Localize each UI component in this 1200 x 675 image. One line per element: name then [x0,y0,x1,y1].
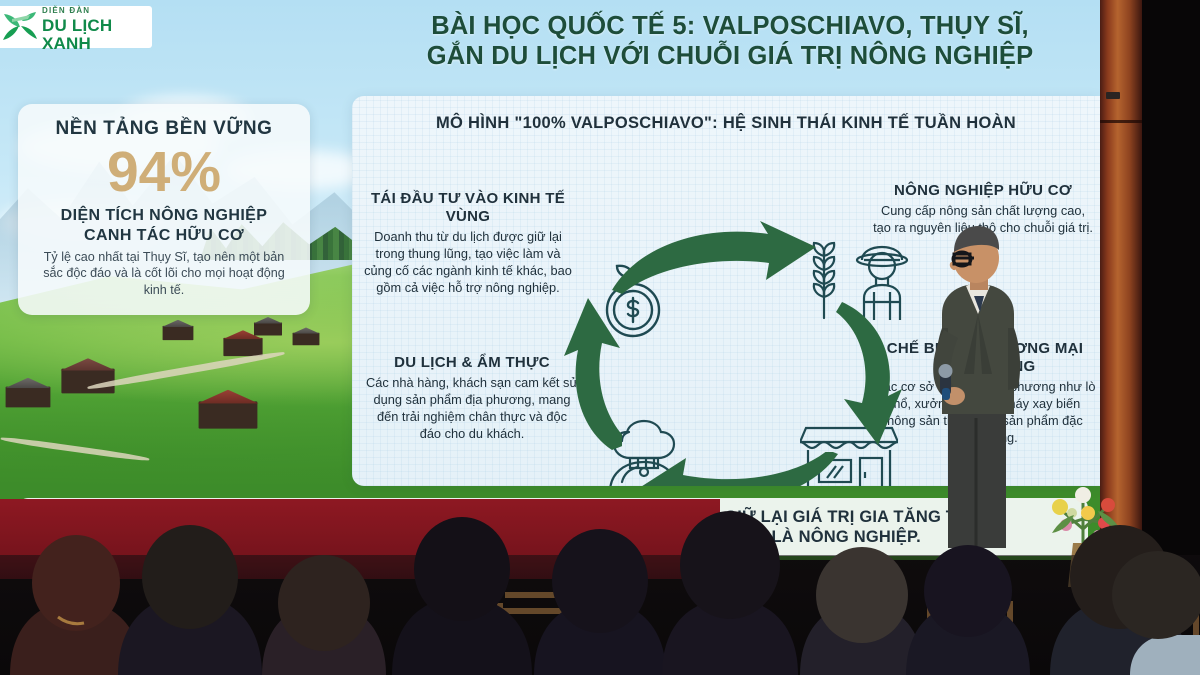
arrow-left-icon [560,292,622,457]
presentation-photo: BÀI HỌC QUỐC TẾ 5: VALPOSCHIAVO, THỤY SĨ… [0,0,1200,675]
panel-title: MÔ HÌNH "100% VALPOSCHIAVO": HỆ SINH THÁ… [352,114,1100,133]
logo-top-line: DIỄN ĐÀN [42,6,90,15]
stat-card-subheading-line2: CANH TÁC HỮU CƠ [34,226,294,245]
arrow-right-icon [836,296,910,453]
stat-card: NỀN TẢNG BỀN VỮNG 94% DIỆN TÍCH NÔNG NGH… [18,104,310,315]
slide-title: BÀI HỌC QUỐC TẾ 5: VALPOSCHIAVO, THỤY SĨ… [360,12,1100,72]
chalet [254,323,282,336]
stat-card-note: Tỷ lệ cao nhất tại Thụy Sĩ, tạo nên một … [34,249,294,299]
chalet [6,387,51,408]
stat-card-value: 94% [34,142,294,202]
door-seam [1100,120,1142,123]
chalet [199,401,258,428]
slide-title-line2: GẮN DU LỊCH VỚI CHUỖI GIÁ TRỊ NÔNG NGHIỆ… [360,42,1100,72]
quadrant-top-left: TÁI ĐẦU TƯ VÀO KINH TẾ VÙNG Doanh thu từ… [362,190,574,297]
quadrant-bottom-left: DU LỊCH & ẨM THỰC Các nhà hàng, khách sạ… [366,354,578,443]
leaf-bird-mark-icon [2,10,38,44]
logo-main-line: DU LỊCH XANH [42,16,112,53]
chalet [163,326,194,340]
slide-title-line1: BÀI HỌC QUỐC TẾ 5: VALPOSCHIAVO, THỤY SĨ… [360,12,1100,42]
stat-card-heading: NỀN TẢNG BỀN VỮNG [34,118,294,140]
quadrant-body: Các nhà hàng, khách sạn cam kết sử dụng … [366,375,578,443]
chalet [223,338,262,356]
stat-card-subheading-line1: DIỆN TÍCH NÔNG NGHIỆP [34,206,294,225]
quadrant-heading: TÁI ĐẦU TƯ VÀO KINH TẾ VÙNG [362,190,574,226]
quadrant-heading: NÔNG NGHIỆP HỮU CƠ [872,182,1094,200]
audience-area [0,445,1200,675]
quadrant-heading: DU LỊCH & ẨM THỰC [366,354,578,372]
arrow-top-icon [608,220,838,299]
door-latch [1106,92,1120,99]
quadrant-body: Doanh thu từ du lịch được giữ lại trong … [362,229,574,297]
forum-logo: DIỄN ĐÀN DU LỊCH XANH [0,6,152,48]
chalet [293,333,320,345]
